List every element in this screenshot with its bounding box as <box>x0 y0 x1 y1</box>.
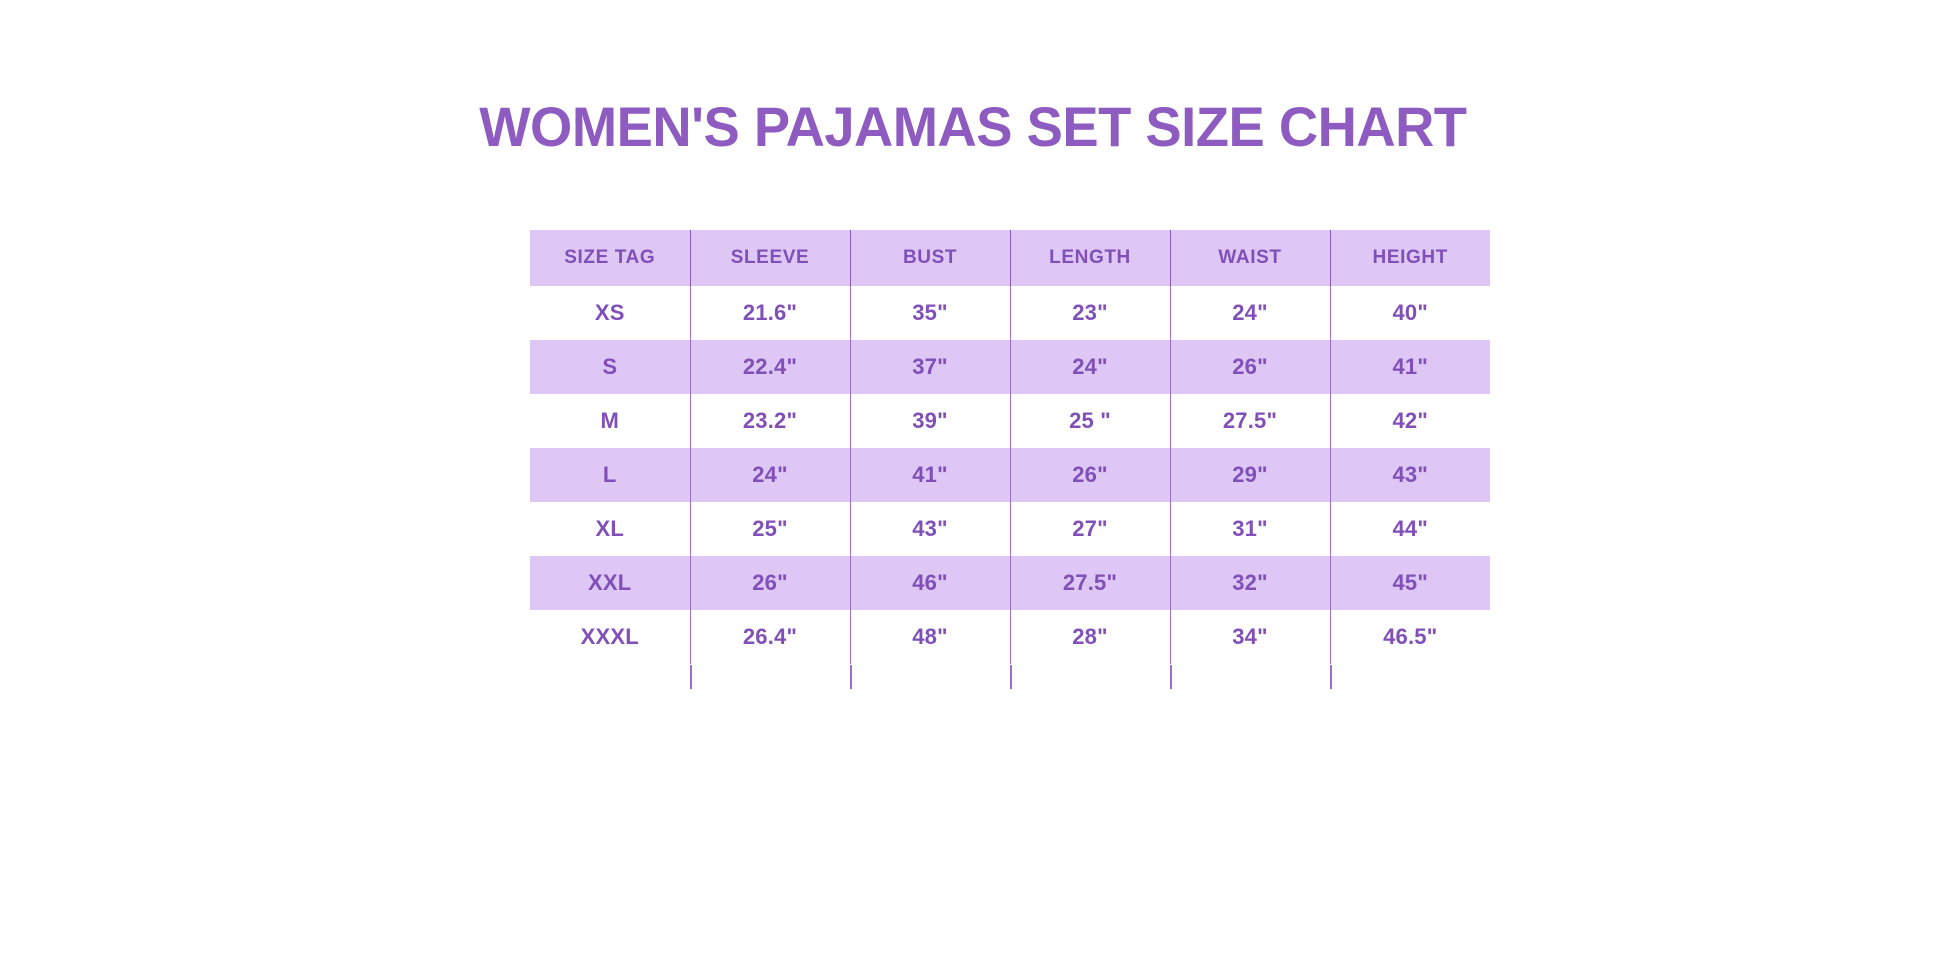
cell-waist: 27.5" <box>1170 394 1330 448</box>
column-header-sleeve: SLEEVE <box>690 230 850 286</box>
cell-size-tag: L <box>530 448 690 502</box>
cell-size-tag: M <box>530 394 690 448</box>
cell-length: 26" <box>1010 448 1170 502</box>
cell-waist: 34" <box>1170 610 1330 664</box>
cell-bust: 46" <box>850 556 1010 610</box>
cell-waist: 29" <box>1170 448 1330 502</box>
table-row: S 22.4" 37" 24" 26" 41" <box>530 340 1490 394</box>
size-chart-table-container: SIZE TAG SLEEVE BUST LENGTH WAIST HEIGHT… <box>530 230 1490 664</box>
table-row: XS 21.6" 35" 23" 24" 40" <box>530 286 1490 340</box>
cell-sleeve: 22.4" <box>690 340 850 394</box>
column-divider-tails <box>530 665 1490 689</box>
cell-sleeve: 26.4" <box>690 610 850 664</box>
cell-waist: 26" <box>1170 340 1330 394</box>
cell-length: 24" <box>1010 340 1170 394</box>
cell-waist: 24" <box>1170 286 1330 340</box>
column-divider-line <box>1010 665 1012 689</box>
cell-sleeve: 26" <box>690 556 850 610</box>
cell-height: 45" <box>1330 556 1490 610</box>
cell-height: 41" <box>1330 340 1490 394</box>
cell-sleeve: 21.6" <box>690 286 850 340</box>
table-header: SIZE TAG SLEEVE BUST LENGTH WAIST HEIGHT <box>530 230 1490 286</box>
cell-bust: 41" <box>850 448 1010 502</box>
cell-sleeve: 25" <box>690 502 850 556</box>
cell-size-tag: XXXL <box>530 610 690 664</box>
cell-height: 46.5" <box>1330 610 1490 664</box>
cell-bust: 39" <box>850 394 1010 448</box>
cell-length: 27" <box>1010 502 1170 556</box>
table-row: L 24" 41" 26" 29" 43" <box>530 448 1490 502</box>
cell-length: 25 " <box>1010 394 1170 448</box>
size-chart-page: WOMEN'S PAJAMAS SET SIZE CHART SIZE TAG … <box>0 0 1946 973</box>
cell-bust: 35" <box>850 286 1010 340</box>
column-divider-line <box>850 665 852 689</box>
cell-waist: 32" <box>1170 556 1330 610</box>
cell-size-tag: S <box>530 340 690 394</box>
cell-length: 27.5" <box>1010 556 1170 610</box>
column-divider-line <box>690 665 692 689</box>
column-divider-line <box>1170 665 1172 689</box>
cell-size-tag: XL <box>530 502 690 556</box>
cell-height: 44" <box>1330 502 1490 556</box>
cell-sleeve: 24" <box>690 448 850 502</box>
cell-length: 28" <box>1010 610 1170 664</box>
cell-waist: 31" <box>1170 502 1330 556</box>
page-title: WOMEN'S PAJAMAS SET SIZE CHART <box>479 98 1466 157</box>
table-row: XL 25" 43" 27" 31" 44" <box>530 502 1490 556</box>
cell-bust: 37" <box>850 340 1010 394</box>
cell-sleeve: 23.2" <box>690 394 850 448</box>
title-container: WOMEN'S PAJAMAS SET SIZE CHART <box>0 60 1946 194</box>
size-chart-table: SIZE TAG SLEEVE BUST LENGTH WAIST HEIGHT… <box>530 230 1490 664</box>
column-header-size-tag: SIZE TAG <box>530 230 690 286</box>
cell-height: 42" <box>1330 394 1490 448</box>
column-header-length: LENGTH <box>1010 230 1170 286</box>
table-body: XS 21.6" 35" 23" 24" 40" S 22.4" 37" 24"… <box>530 286 1490 664</box>
column-header-waist: WAIST <box>1170 230 1330 286</box>
cell-height: 40" <box>1330 286 1490 340</box>
cell-size-tag: XS <box>530 286 690 340</box>
table-header-row: SIZE TAG SLEEVE BUST LENGTH WAIST HEIGHT <box>530 230 1490 286</box>
cell-bust: 43" <box>850 502 1010 556</box>
cell-length: 23" <box>1010 286 1170 340</box>
table-row: M 23.2" 39" 25 " 27.5" 42" <box>530 394 1490 448</box>
table-row: XXL 26" 46" 27.5" 32" 45" <box>530 556 1490 610</box>
cell-size-tag: XXL <box>530 556 690 610</box>
column-divider-line <box>1330 665 1332 689</box>
table-row: XXXL 26.4" 48" 28" 34" 46.5" <box>530 610 1490 664</box>
cell-height: 43" <box>1330 448 1490 502</box>
column-header-height: HEIGHT <box>1330 230 1490 286</box>
column-header-bust: BUST <box>850 230 1010 286</box>
cell-bust: 48" <box>850 610 1010 664</box>
